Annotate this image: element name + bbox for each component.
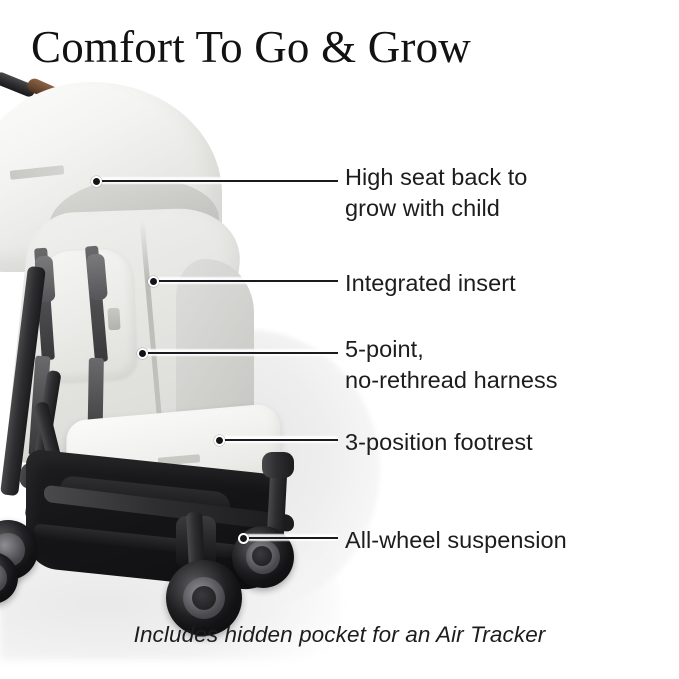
callout-label-all-wheel-suspension: All-wheel suspension [345, 525, 567, 556]
leader-line-five-point-harness [142, 352, 338, 354]
leader-line-all-wheel-suspension [243, 537, 338, 539]
callout-dot-three-position-footrest [214, 435, 225, 446]
leader-line-high-seat-back [96, 180, 338, 182]
callout-dot-all-wheel-suspension [238, 533, 249, 544]
callout-label-integrated-insert: Integrated insert [345, 268, 516, 299]
callout-dot-five-point-harness [137, 348, 148, 359]
callout-label-high-seat-back: High seat back to grow with child [345, 162, 527, 225]
product-feature-infographic: Comfort To Go & Grow [0, 0, 679, 679]
callout-dot-high-seat-back [91, 176, 102, 187]
wheel-hubcap-front-left [252, 546, 272, 566]
insert-label-tag [107, 308, 120, 331]
bottom-caption: Includes hidden pocket for an Air Tracke… [0, 622, 679, 648]
wheel-hubcap-front-right [192, 586, 216, 610]
leader-line-three-position-footrest [219, 439, 338, 441]
frame-joint-front [262, 452, 294, 478]
callout-label-five-point-harness: 5-point, no-rethread harness [345, 334, 558, 397]
leader-line-integrated-insert [153, 280, 338, 282]
callout-label-three-position-footrest: 3-position footrest [345, 427, 533, 458]
callout-dot-integrated-insert [148, 276, 159, 287]
